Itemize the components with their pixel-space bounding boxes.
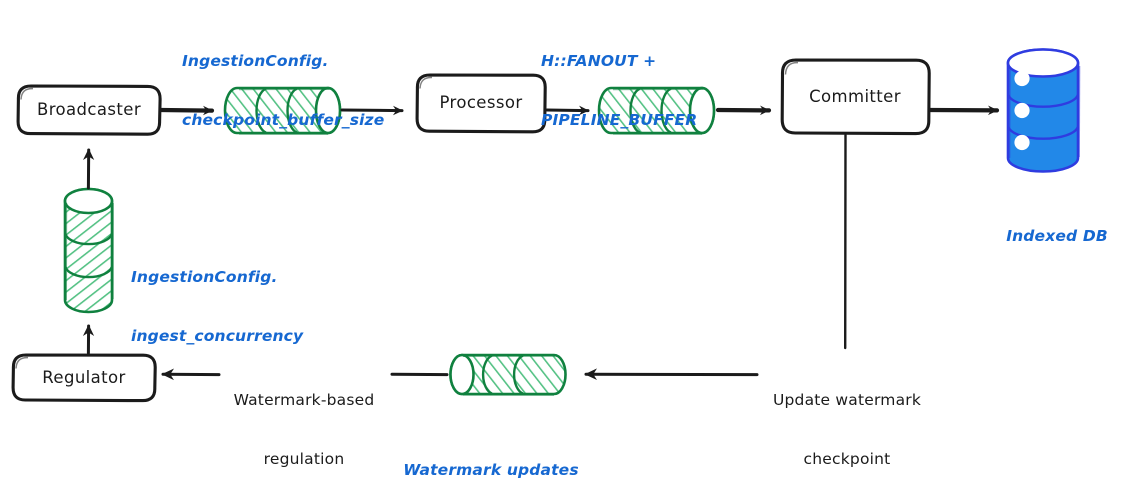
edge-processor-to-pipeline-buffer xyxy=(547,110,588,111)
buffer-watermark-buffer xyxy=(451,355,566,395)
buffer-pipeline-buffer xyxy=(599,88,714,134)
diagram-sketch-layer xyxy=(0,0,1124,479)
edge-broadcaster-to-checkpoint-buffer xyxy=(161,110,212,111)
db-indicator-dot xyxy=(1014,135,1029,150)
database-indexed-db xyxy=(1008,49,1080,171)
node-broadcaster[interactable] xyxy=(18,86,160,134)
edge-checkpoint-buffer-to-processor xyxy=(342,110,402,111)
db-indicator-dot xyxy=(1014,71,1029,86)
buffer-ingest-buffer xyxy=(65,189,113,312)
node-processor[interactable] xyxy=(417,75,545,132)
diagram-canvas: Broadcaster Processor Committer Regulato… xyxy=(0,0,1124,479)
db-indicator-dot xyxy=(1014,103,1029,118)
node-regulator[interactable] xyxy=(13,355,155,401)
node-committer[interactable] xyxy=(782,60,929,134)
buffer-checkpoint-buffer xyxy=(225,88,340,134)
